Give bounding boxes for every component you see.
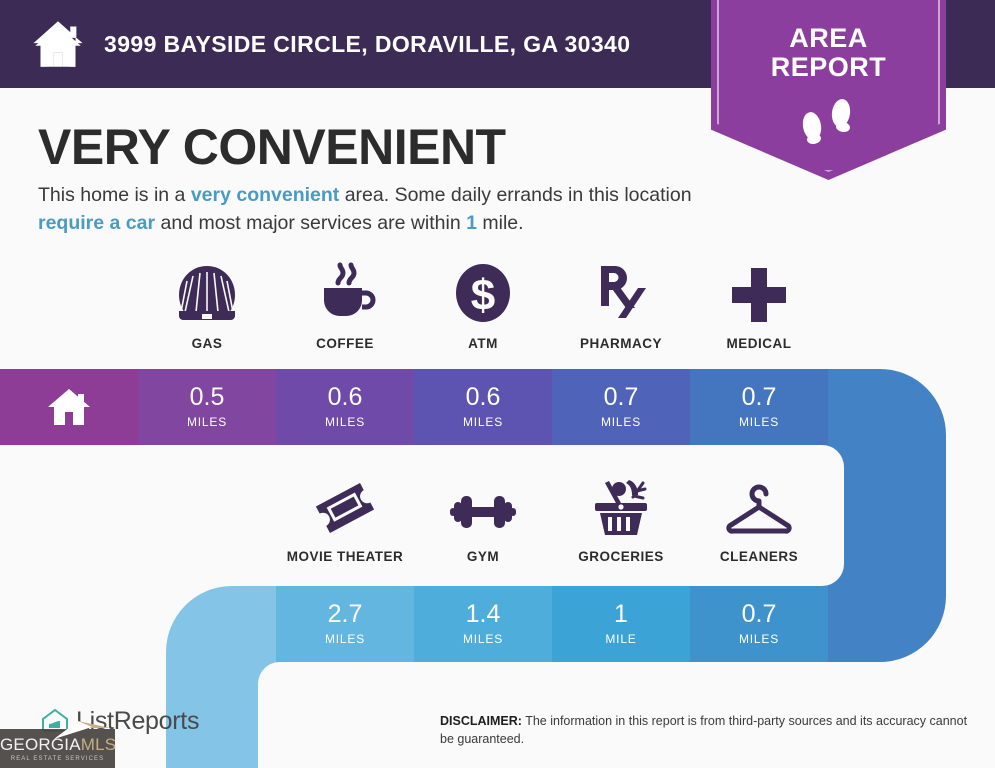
clothes-hanger-icon xyxy=(724,475,794,537)
subtitle-part-2: area. Some daily errands in this locatio… xyxy=(339,184,691,206)
gas-shell-icon xyxy=(176,262,238,324)
bar-segment: 0.7 MILES xyxy=(552,369,690,445)
distance-unit: MILES xyxy=(325,415,365,429)
amenity-icon-row-2: MOVIE THEATER GYM xyxy=(276,475,828,564)
medical-cross-icon xyxy=(730,262,788,324)
distance-bar-row-2: 2.7 MILES 1.4 MILES 1 MILE 0.7 MILES xyxy=(276,586,828,662)
subtitle-part-4: mile. xyxy=(477,212,524,234)
subtitle-highlight-2: require a car xyxy=(38,212,155,234)
disclaimer: DISCLAIMER: The information in this repo… xyxy=(440,712,970,748)
amenity-label: CLEANERS xyxy=(720,549,798,564)
mls-swoosh-icon xyxy=(52,719,112,741)
distance-value: 0.5 xyxy=(190,385,225,410)
bar-segment: 1.4 MILES xyxy=(414,586,552,662)
area-report-badge-text: AREA REPORT xyxy=(711,24,946,82)
page-subtitle: This home is in a very convenient area. … xyxy=(38,182,708,237)
subtitle-highlight-1: very convenient xyxy=(191,184,339,206)
svg-text:$: $ xyxy=(471,271,495,320)
amenity-groceries: GROCERIES xyxy=(552,475,690,564)
amenity-atm: $ ATM xyxy=(414,262,552,351)
amenity-label: MEDICAL xyxy=(727,336,792,351)
house-icon xyxy=(30,16,86,72)
amenity-label: GAS xyxy=(192,336,223,351)
amenity-pharmacy: PHARMACY xyxy=(552,262,690,351)
distance-unit: MILES xyxy=(187,415,227,429)
page-title: VERY CONVENIENT xyxy=(38,118,506,176)
header-address: 3999 BAYSIDE CIRCLE, DORAVILLE, GA 30340 xyxy=(104,31,630,58)
grocery-basket-icon xyxy=(589,475,653,537)
distance-unit: MILE xyxy=(605,632,636,646)
bar-segment: 1 MILE xyxy=(552,586,690,662)
amenity-gym: GYM xyxy=(414,475,552,564)
bar-segment: 2.7 MILES xyxy=(276,586,414,662)
distance-value: 0.7 xyxy=(604,385,639,410)
distance-unit: MILES xyxy=(325,632,365,646)
mls-tagline: REAL ESTATE SERVICES xyxy=(0,756,115,762)
amenity-medical: MEDICAL xyxy=(690,262,828,351)
movie-ticket-icon xyxy=(314,475,376,537)
bar-segment: 0.6 MILES xyxy=(276,369,414,445)
amenity-label: PHARMACY xyxy=(580,336,662,351)
distance-value: 2.7 xyxy=(328,602,363,627)
distance-value: 0.6 xyxy=(328,385,363,410)
distance-value: 1 xyxy=(614,602,628,627)
amenity-label: ATM xyxy=(468,336,498,351)
distance-value: 0.7 xyxy=(742,385,777,410)
distance-value: 1.4 xyxy=(466,602,501,627)
rx-icon xyxy=(592,262,650,324)
amenity-label: COFFEE xyxy=(316,336,374,351)
distance-unit: MILES xyxy=(463,415,503,429)
footprints-icon xyxy=(795,96,861,144)
amenity-gas: GAS xyxy=(138,262,276,351)
distance-bar-row-1: 0.5 MILES 0.6 MILES 0.6 MILES 0.7 MILES … xyxy=(0,369,828,445)
amenity-label: GYM xyxy=(467,549,499,564)
distance-value: 0.7 xyxy=(742,602,777,627)
dollar-circle-icon: $ xyxy=(454,262,512,324)
amenity-label: GROCERIES xyxy=(578,549,664,564)
subtitle-highlight-3: 1 xyxy=(466,212,477,234)
badge-line-2: REPORT xyxy=(711,53,946,82)
amenity-movie-theater: MOVIE THEATER xyxy=(276,475,414,564)
amenity-icon-row-1: GAS COFFEE $ ATM xyxy=(138,262,828,351)
dumbbell-icon xyxy=(450,475,516,537)
bar-segment: 0.5 MILES xyxy=(138,369,276,445)
distance-unit: MILES xyxy=(739,415,779,429)
subtitle-part-1: This home is in a xyxy=(38,184,191,206)
amenity-coffee: COFFEE xyxy=(276,262,414,351)
bar-segment: 0.7 MILES xyxy=(690,586,828,662)
house-icon xyxy=(47,387,91,427)
coffee-cup-icon xyxy=(314,262,376,324)
distance-unit: MILES xyxy=(463,632,503,646)
amenity-label: MOVIE THEATER xyxy=(287,549,404,564)
bar-segment: 0.7 MILES xyxy=(690,369,828,445)
amenity-cleaners: CLEANERS xyxy=(690,475,828,564)
distance-unit: MILES xyxy=(601,415,641,429)
bar-segment-home xyxy=(0,369,138,445)
distance-unit: MILES xyxy=(739,632,779,646)
bar-segment: 0.6 MILES xyxy=(414,369,552,445)
disclaimer-label: DISCLAIMER: xyxy=(440,714,522,728)
distance-value: 0.6 xyxy=(466,385,501,410)
georgia-mls-watermark: GEORGIAMLS REAL ESTATE SERVICES xyxy=(0,729,115,768)
badge-line-1: AREA xyxy=(711,24,946,53)
subtitle-part-3: and most major services are within xyxy=(155,212,466,234)
